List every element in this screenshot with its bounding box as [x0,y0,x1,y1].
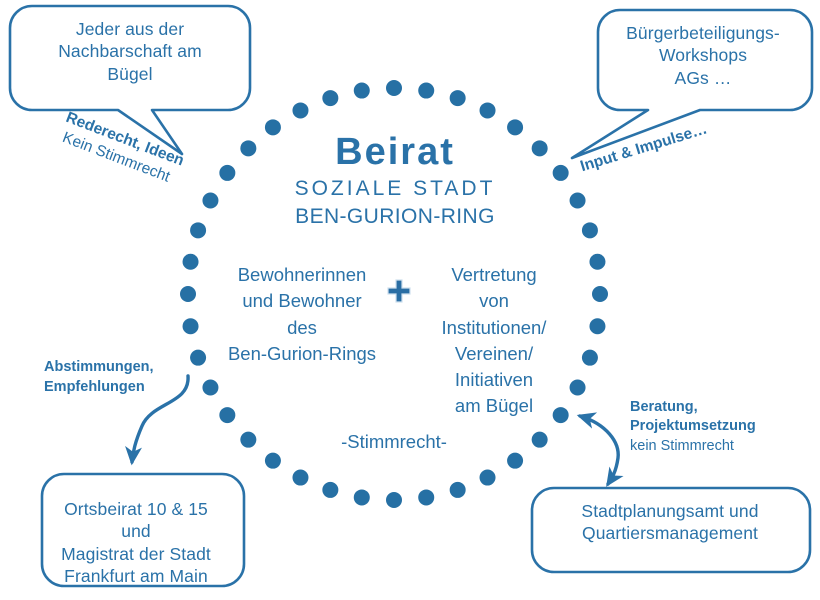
subtitle-ben-gurion-ring: BEN-GURION-RING [260,204,530,231]
ring-dot [570,192,586,208]
ring-dot [480,470,496,486]
ring-dot [582,350,598,366]
ring-dot [582,222,598,238]
col-right-line-2: von [418,288,570,314]
col-right-line-3: Institutionen/ [418,315,570,341]
ring-dot [190,222,206,238]
speech-bubble-top-left-text: Jeder aus der Nachbarschaft am Bügel [26,18,234,85]
bubble-bl-line-2: und [36,520,236,542]
ring-dot [507,453,523,469]
stimmrecht-note: -Stimmrecht- [304,430,484,454]
bubble-tl-line-1: Jeder aus der [26,18,234,40]
col-right-line-5: Initiativen [418,367,570,393]
bubble-bl-line-3: Magistrat der Stadt [36,543,236,565]
diagram-canvas: Jeder aus der Nachbarschaft am Bügel Bür… [0,0,820,600]
col-right-line-1: Vertretung [418,262,570,288]
bubble-tl-line-3: Bügel [26,63,234,85]
ring-dot [322,90,338,106]
label-beratung-line-2: Projektumsetzung [630,417,815,436]
label-beratung-line-1: Beratung, [630,398,815,417]
ring-dot [265,453,281,469]
ring-dot [418,83,434,99]
label-beratung-line-3: kein Stimmrecht [630,437,815,456]
label-abstimmungen-line-2: Empfehlungen [44,378,204,398]
ring-dot [532,140,548,156]
ring-dot [553,165,569,181]
col-right-line-4: Vereinen/ [418,341,570,367]
bubble-br-line-2: Quartiersmanagement [534,522,806,544]
ring-dot [354,489,370,505]
ring-dot [450,90,466,106]
label-abstimmungen-line-1: Abstimmungen, [44,358,204,378]
ring-dot [180,286,196,302]
ring-dot [480,102,496,118]
bubble-tr-line-3: AGs … [604,67,802,89]
label-beratung-projektumsetzung: Beratung, Projektumsetzung kein Stimmrec… [630,398,815,456]
ring-dot [386,80,402,96]
speech-bubble-top-right-text: Bürgerbeteiligungs- Workshops AGs … [604,22,802,89]
col-left-line-2: und Bewohner [216,288,388,314]
box-bottom-right-text: Stadtplanungsamt und Quartiersmanagement [534,500,806,545]
ring-dot [219,407,235,423]
bubble-bl-line-1: Ortsbeirat 10 & 15 [36,498,236,520]
plus-icon [386,278,412,304]
center-column-right: Vertretung von Institutionen/ Vereinen/ … [418,262,570,420]
ring-dot [240,140,256,156]
col-left-line-3: des [216,315,388,341]
ring-dot [592,286,608,302]
bubble-tl-line-2: Nachbarschaft am [26,40,234,62]
ring-dot [292,470,308,486]
subtitle-soziale-stadt: SOZIALE STADT [270,176,520,203]
col-left-line-1: Bewohnerinnen [216,262,388,288]
bubble-bl-line-4: Frankfurt am Main [36,565,236,587]
ring-dot [570,380,586,396]
plus-icon-glyph [386,278,412,304]
box-bottom-left-text: Ortsbeirat 10 & 15 und Magistrat der Sta… [36,498,236,588]
ring-dot [450,482,466,498]
bubble-tr-line-2: Workshops [604,44,802,66]
col-right-line-6: am Bügel [418,393,570,419]
ring-dot [183,318,199,334]
label-abstimmungen-empfehlungen: Abstimmungen, Empfehlungen [44,358,204,397]
ring-dot [418,489,434,505]
ring-dot [292,102,308,118]
ring-dot [240,432,256,448]
ring-dot [322,482,338,498]
ring-dot [589,254,605,270]
bubble-br-line-1: Stadtplanungsamt und [534,500,806,522]
ring-dot [183,254,199,270]
page-title: Beirat [270,128,520,177]
col-left-line-4: Ben-Gurion-Rings [216,341,388,367]
center-column-left: Bewohnerinnen und Bewohner des Ben-Gurio… [216,262,388,367]
bubble-tr-line-1: Bürgerbeteiligungs- [604,22,802,44]
ring-dot [589,318,605,334]
ring-dot [354,83,370,99]
ring-dot [386,492,402,508]
arrow-beratung [580,416,618,484]
ring-dot [532,432,548,448]
ring-dot [202,380,218,396]
